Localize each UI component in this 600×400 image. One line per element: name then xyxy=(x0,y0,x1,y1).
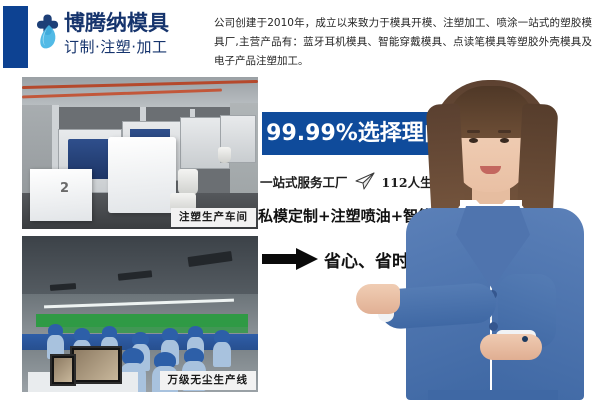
model-eye-left xyxy=(469,138,478,143)
photo1-bucket xyxy=(178,169,198,195)
model-hand-right-open-palm xyxy=(480,334,542,360)
photo1-white-press xyxy=(108,137,176,213)
photo2-monitor xyxy=(50,354,76,386)
photo2-worker xyxy=(48,324,63,358)
logo-title: 博腾纳模具 xyxy=(64,11,214,35)
photo1-caption: 注塑生产车间 xyxy=(171,208,256,227)
promo-row-one-left: 一站式服务工厂 xyxy=(260,172,348,191)
right-arrow-icon xyxy=(262,248,318,270)
photo1-bucket xyxy=(218,147,231,163)
model-hand-left xyxy=(356,284,400,314)
company-intro-text: 公司创建于2010年，成立以来致力于模具开模、注塑加工、喷涂一站式的塑胶模具厂,… xyxy=(214,14,592,71)
model-skirt xyxy=(428,390,558,400)
promotional-banner-page: 博腾纳模具 订制·注塑·加工 公司创建于2010年，成立以来致力于模具开模、注塑… xyxy=(0,0,600,400)
model-nail xyxy=(522,336,528,342)
model-eyebrow-right xyxy=(498,130,511,133)
model-eye-right xyxy=(500,138,509,143)
photo2-worker xyxy=(214,330,230,366)
page-header: 博腾纳模具 订制·注塑·加工 公司创建于2010年，成立以来致力于模具开模、注塑… xyxy=(0,0,600,72)
header-accent-bar xyxy=(3,6,28,68)
photo-clean-room-assembly-line: 万级无尘生产线 xyxy=(22,236,258,392)
logo-text-block: 博腾纳模具 订制·注塑·加工 xyxy=(64,11,214,57)
logo-subtitle: 订制·注塑·加工 xyxy=(64,37,214,57)
photo2-green-panel xyxy=(36,314,248,327)
droplet-cross-logo-icon xyxy=(36,12,60,60)
model-jacket-button xyxy=(489,322,498,331)
photo2-caption: 万级无尘生产线 xyxy=(160,371,257,390)
photo-injection-moulding-workshop: 2 注塑生产车间 xyxy=(22,77,258,229)
photo2-monitor xyxy=(70,346,122,384)
model-eyebrow-left xyxy=(467,130,480,133)
businesswoman-presenter-image xyxy=(372,78,600,400)
photo1-machine-number: 2 xyxy=(60,181,69,196)
